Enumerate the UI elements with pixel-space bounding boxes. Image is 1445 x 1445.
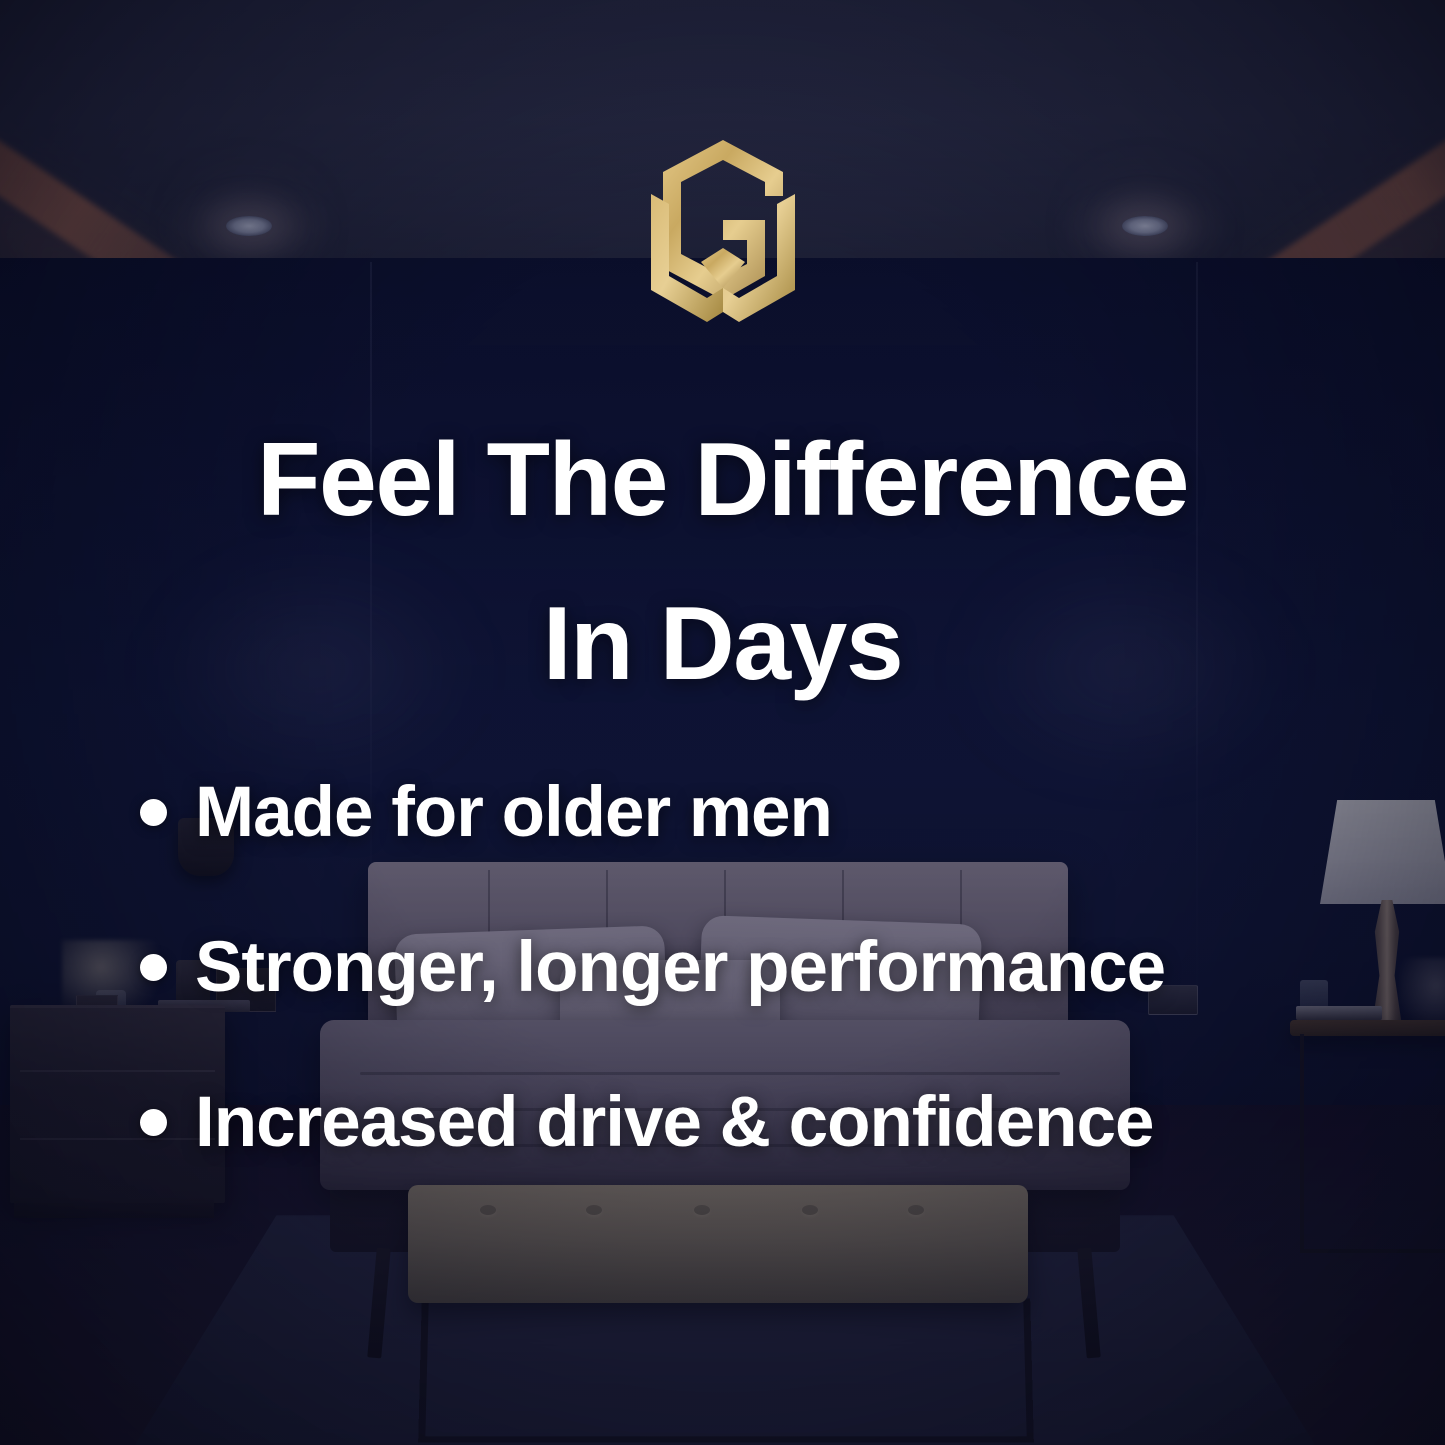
list-item: Stronger, longer performance [140, 890, 1405, 1045]
gw-monogram-logo-icon [635, 136, 811, 328]
benefit-text: Made for older men [195, 772, 832, 853]
ad-creative-canvas: Feel The Difference In Days Made for old… [0, 0, 1445, 1445]
benefit-text: Increased drive & confidence [195, 1082, 1153, 1163]
list-item: Made for older men [140, 735, 1405, 890]
headline-line-1: Feel The Difference [257, 422, 1188, 538]
bullet-dot-icon [140, 799, 167, 826]
list-item: Increased drive & confidence [140, 1045, 1405, 1200]
headline-line-2: In Days [543, 586, 902, 702]
brand-logo [0, 136, 1445, 328]
page-title: Feel The Difference In Days [0, 398, 1445, 727]
bullet-dot-icon [140, 1109, 167, 1136]
bullet-dot-icon [140, 954, 167, 981]
benefit-text: Stronger, longer performance [195, 927, 1165, 1008]
ad-content-layer: Feel The Difference In Days Made for old… [0, 0, 1445, 1445]
benefit-list: Made for older men Stronger, longer perf… [140, 735, 1405, 1200]
